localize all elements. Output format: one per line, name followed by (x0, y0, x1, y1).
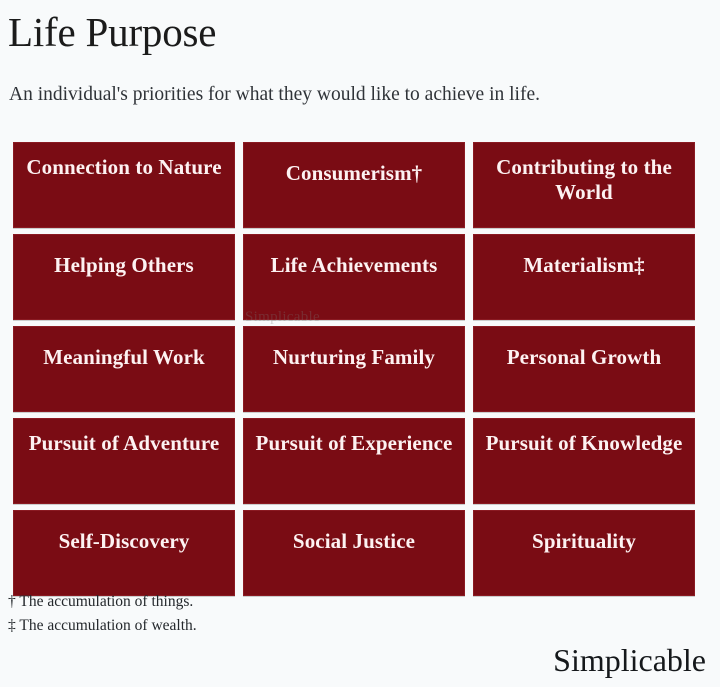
grid-cell: Connection to Nature (13, 142, 235, 228)
footnote-list: † The accumulation of things. ‡ The accu… (8, 590, 508, 638)
grid-cell: Meaningful Work (13, 326, 235, 412)
grid-cell: Materialism‡ (473, 234, 695, 320)
grid-cell: Pursuit of Experience (243, 418, 465, 504)
page-subtitle: An individual's priorities for what they… (9, 82, 540, 108)
grid-cell: Nurturing Family (243, 326, 465, 412)
grid-cell: Helping Others (13, 234, 235, 320)
grid-cell: Self-Discovery (13, 510, 235, 596)
grid-cell: Life Achievements (243, 234, 465, 320)
footnote-dagger: † The accumulation of things. (8, 590, 508, 614)
infographic-page: Life Purpose An individual's priorities … (0, 0, 720, 687)
grid-cell: Pursuit of Adventure (13, 418, 235, 504)
grid-cell: Consumerism† (243, 142, 465, 228)
grid-cell: Personal Growth (473, 326, 695, 412)
page-title: Life Purpose (8, 8, 216, 56)
grid-cell: Contributing to the World (473, 142, 695, 228)
grid-cell: Social Justice (243, 510, 465, 596)
footnote-double-dagger: ‡ The accumulation of wealth. (8, 614, 508, 638)
grid-cell: Spirituality (473, 510, 695, 596)
life-purpose-grid: Connection to NatureConsumerism†Contribu… (13, 142, 694, 596)
grid-cell: Pursuit of Knowledge (473, 418, 695, 504)
brand-logo-simplicable: Simplicable (553, 641, 706, 679)
